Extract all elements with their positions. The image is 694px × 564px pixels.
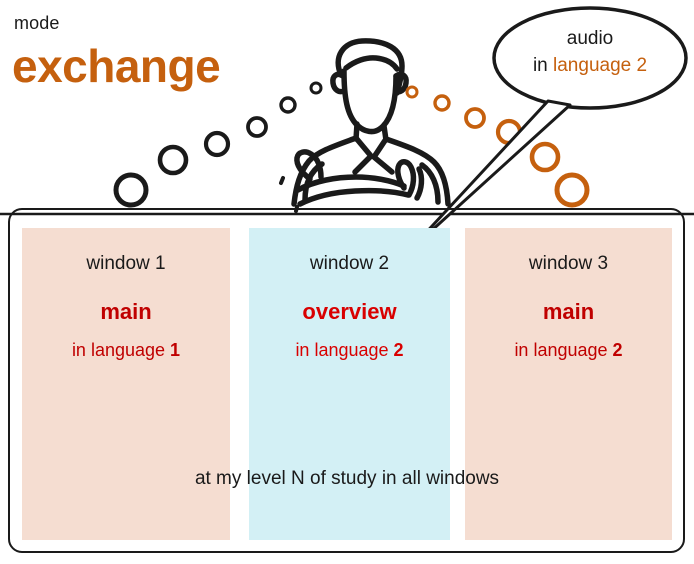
window-language-number-2: 2 xyxy=(394,340,404,360)
person-crossed-arms-icon xyxy=(281,41,448,211)
window-panel-3[interactable]: window 3 main in language 2 xyxy=(465,228,672,540)
window-panel-2[interactable]: window 2 overview in language 2 xyxy=(249,228,450,540)
window-language-1: in language 1 xyxy=(22,338,230,362)
window-language-3: in language 2 xyxy=(465,338,672,362)
window-language-prefix-3: in language xyxy=(514,340,607,360)
page-title: exchange xyxy=(12,40,220,92)
footer-note: at my level N of study in all windows xyxy=(22,466,672,492)
window-panel-1[interactable]: window 1 main in language 1 xyxy=(22,228,230,540)
speech-bubble-text: audio in language 2 xyxy=(497,25,683,79)
mode-label: mode xyxy=(14,13,59,33)
window-language-prefix-2: in language xyxy=(295,340,388,360)
left-sound-bubbles xyxy=(116,83,321,205)
window-title-3: window 3 xyxy=(465,252,672,276)
window-title-1: window 1 xyxy=(22,252,230,276)
window-language-prefix-1: in language xyxy=(72,340,165,360)
window-kind-2: overview xyxy=(249,298,450,326)
speech-bubble-line-1: audio xyxy=(497,25,683,52)
window-language-2: in language 2 xyxy=(249,338,450,362)
speech-bubble-line-2-prefix: in xyxy=(533,55,548,76)
speech-bubble-line-2-accent: language 2 xyxy=(553,55,647,76)
window-language-number-1: 1 xyxy=(170,340,180,360)
window-title-2: window 2 xyxy=(249,252,450,276)
speech-bubble-line-2: in language 2 xyxy=(497,52,683,79)
window-kind-3: main xyxy=(465,298,672,326)
window-language-number-3: 2 xyxy=(613,340,623,360)
window-kind-1: main xyxy=(22,298,230,326)
right-sound-bubbles xyxy=(407,87,587,205)
